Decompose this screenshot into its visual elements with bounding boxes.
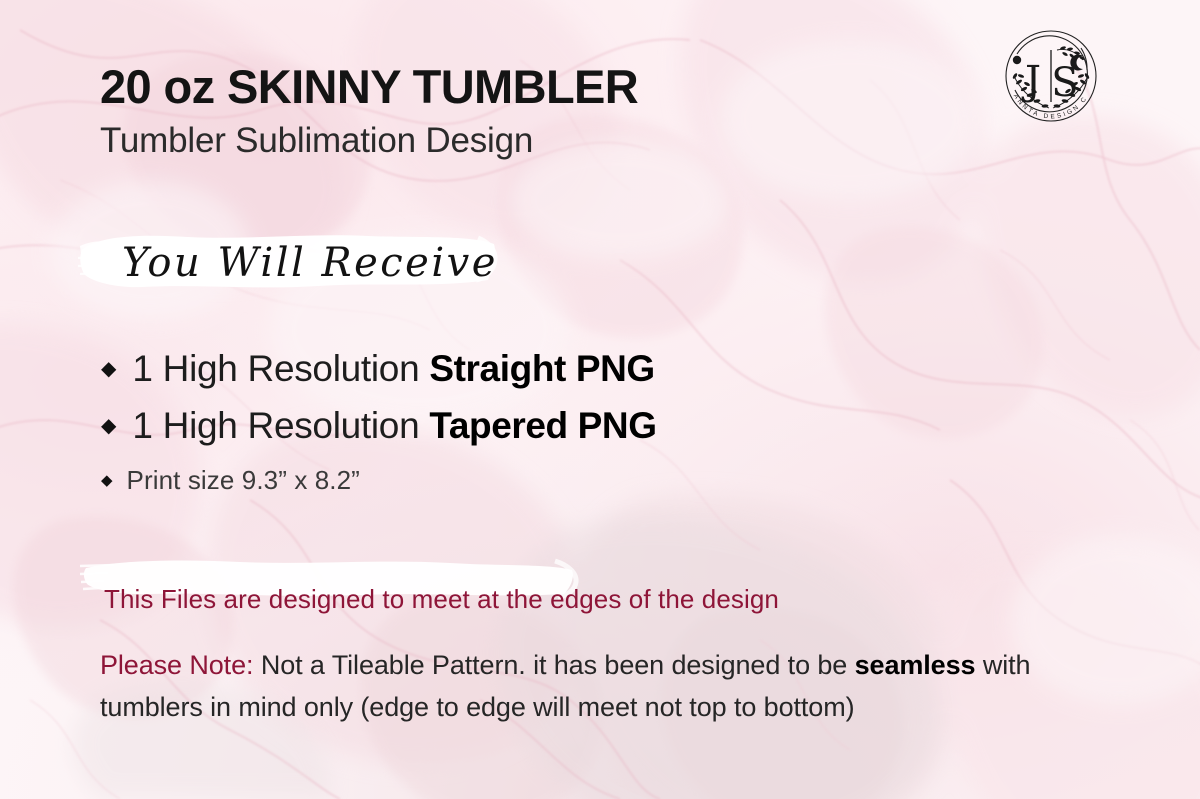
you-will-receive-text: You Will Receive <box>122 240 498 286</box>
diamond-bullet-icon: ◆ <box>101 416 116 436</box>
header-block: 20 oz SKINNY TUMBLER Tumbler Sublimation… <box>100 62 638 163</box>
you-will-receive-heading: You Will Receive <box>122 232 502 292</box>
feature-list: ◆ 1 High Resolution Straight PNG ◆ 1 Hig… <box>101 340 657 503</box>
please-note-label: Please Note: <box>100 650 253 680</box>
diamond-bullet-icon: ◆ <box>101 473 113 488</box>
diamond-bullet-icon: ◆ <box>101 359 116 379</box>
feature-text-bold: Straight PNG <box>429 348 654 390</box>
please-note-block: Please Note: Not a Tileable Pattern. it … <box>100 645 1100 729</box>
design-preview-canvas: You Will Receive 20 oz SKINNY TUMBLER Tu… <box>0 0 1200 799</box>
page-title: 20 oz SKINNY TUMBLER <box>100 62 638 112</box>
feature-text-light: 1 High Resolution <box>132 348 419 390</box>
print-size-text: Print size 9.3” x 8.2” <box>127 465 360 496</box>
monogram-letters: J S <box>1021 50 1079 106</box>
dot-accent-icon <box>1013 56 1021 64</box>
list-item: ◆ 1 High Resolution Tapered PNG <box>101 397 657 454</box>
please-note-body-first: Not a Tileable Pattern. it has been desi… <box>261 650 847 680</box>
list-item: ◆ Print size 9.3” x 8.2” <box>101 457 657 503</box>
brand-logo[interactable]: J S <box>995 20 1107 132</box>
feature-text-light: 1 High Resolution <box>132 405 419 447</box>
edges-note-text: This Files are designed to meet at the e… <box>104 584 779 615</box>
page-subtitle: Tumbler Sublimation Design <box>100 118 638 164</box>
list-item: ◆ 1 High Resolution Straight PNG <box>101 340 657 397</box>
feature-text-bold: Tapered PNG <box>429 405 656 447</box>
please-note-emphasis: seamless <box>855 650 976 680</box>
